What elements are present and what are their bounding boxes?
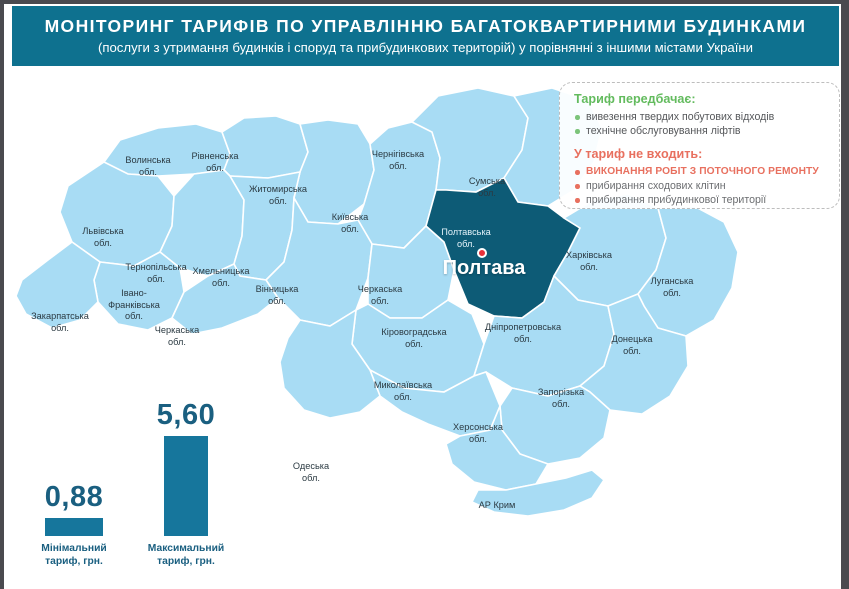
- bar-caption-min-line2: тариф, грн.: [45, 556, 103, 567]
- bar-caption-min-line1: Мінімальний: [41, 543, 106, 554]
- bar-value-min: 0,88: [26, 482, 122, 512]
- legend-excluded-item: прибирання прибудинкової території: [574, 193, 827, 207]
- tariff-bar-chart: 0,88 Мінімальний тариф, грн. 5,60 Максим…: [20, 400, 270, 585]
- frame-border-right: [841, 0, 849, 589]
- bar-group-min: 0,88 Мінімальний тариф, грн.: [26, 482, 122, 568]
- bullet-icon: [575, 198, 580, 203]
- legend-excluded-item-text: прибирання сходових клітин: [586, 180, 726, 192]
- page-subtitle: (послуги з утримання будинків і споруд т…: [98, 41, 753, 55]
- region-rivne[interactable]: [222, 116, 308, 178]
- bar-caption-max-line2: тариф, грн.: [157, 556, 215, 567]
- region-volyn[interactable]: [104, 124, 230, 176]
- legend-excluded-heading: У тариф не входить:: [574, 147, 827, 161]
- page-title: МОНІТОРИНГ ТАРИФІВ ПО УПРАВЛІННЮ БАГАТОК…: [45, 17, 807, 35]
- frame-border-top: [0, 0, 849, 4]
- bar-caption-max: Максимальний тариф, грн.: [128, 543, 244, 568]
- legend-excluded-item: ВИКОНАННЯ РОБІТ З ПОТОЧНОГО РЕМОНТУ: [574, 165, 827, 179]
- bullet-icon: [575, 115, 580, 120]
- bar-rect-min: [45, 518, 103, 536]
- legend-included-item: вивезення твердих побутових відходів: [574, 110, 827, 124]
- legend-excluded-item-text: прибирання прибудинкової території: [586, 194, 766, 206]
- poltava-city-label: Полтава: [443, 257, 526, 280]
- legend-included-item-text: технічне обслуговування ліфтів: [586, 125, 741, 137]
- region-ternopil[interactable]: [160, 170, 244, 276]
- bullet-icon: [575, 170, 580, 175]
- legend-excluded-item-text: ВИКОНАННЯ РОБІТ З ПОТОЧНОГО РЕМОНТУ: [586, 166, 819, 177]
- header-banner: МОНІТОРИНГ ТАРИФІВ ПО УПРАВЛІННЮ БАГАТОК…: [12, 6, 839, 66]
- legend-excluded-list: ВИКОНАННЯ РОБІТ З ПОТОЧНОГО РЕМОНТУ приб…: [574, 165, 827, 207]
- legend-excluded-item: прибирання сходових клітин: [574, 179, 827, 193]
- bar-caption-max-line1: Максимальний: [148, 543, 224, 554]
- legend-included-heading: Тариф передбачає:: [574, 92, 827, 106]
- legend-included-list: вивезення твердих побутових відходів тех…: [574, 110, 827, 138]
- tariff-legend-card: Тариф передбачає: вивезення твердих побу…: [559, 82, 840, 209]
- frame-border-left: [0, 0, 4, 589]
- bar-rect-max: [164, 436, 208, 536]
- legend-included-item-text: вивезення твердих побутових відходів: [586, 111, 774, 123]
- region-zakarpattia[interactable]: [16, 242, 100, 328]
- bar-group-max: 5,60 Максимальний тариф, грн.: [128, 400, 244, 568]
- region-ivano-frankivsk[interactable]: [94, 252, 184, 330]
- bullet-icon: [575, 184, 580, 189]
- bar-value-max: 5,60: [128, 400, 244, 430]
- bullet-icon: [575, 129, 580, 134]
- bar-caption-min: Мінімальний тариф, грн.: [26, 543, 122, 568]
- legend-included-item: технічне обслуговування ліфтів: [574, 124, 827, 138]
